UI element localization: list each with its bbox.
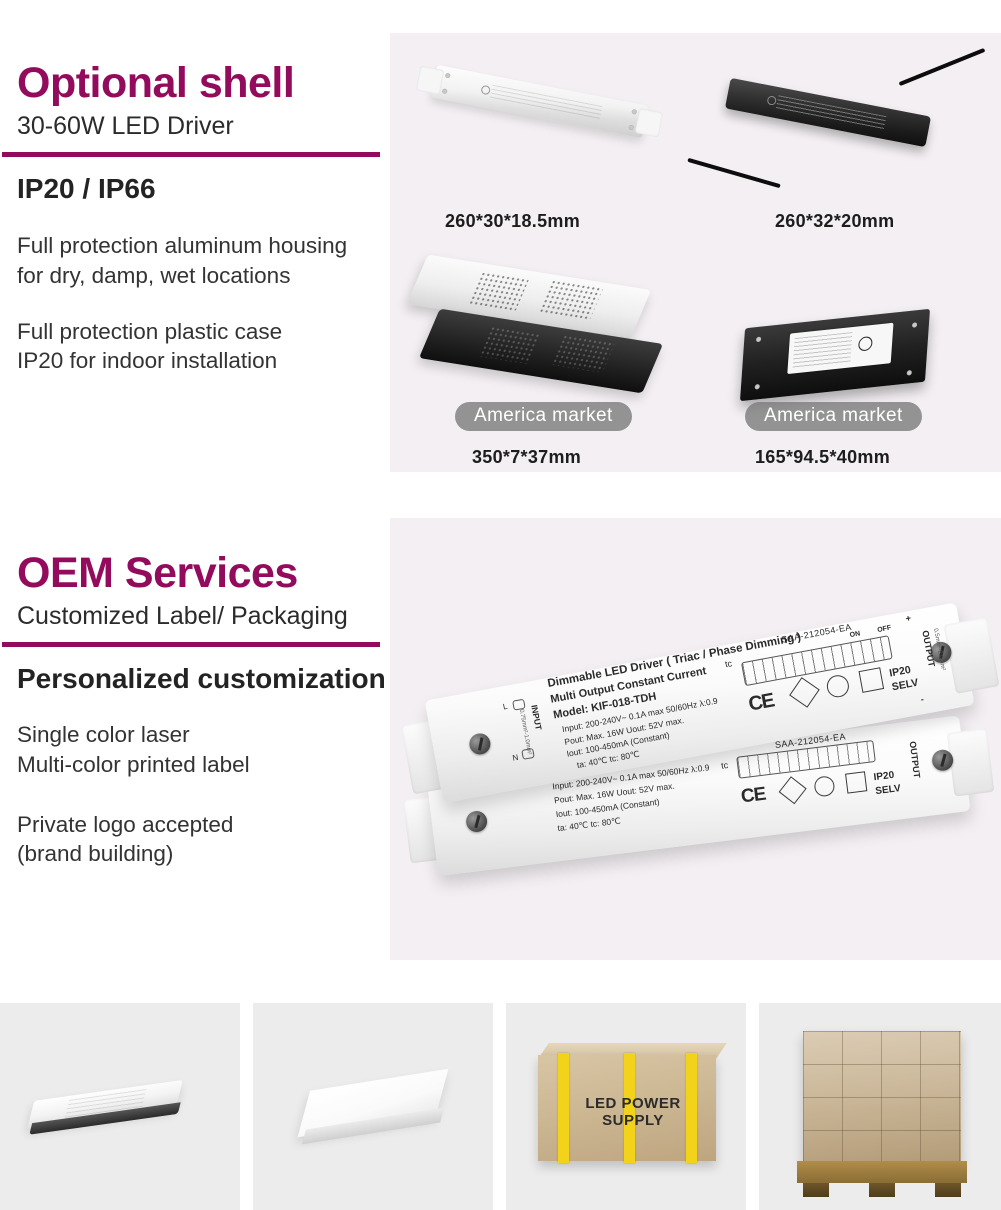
carton-caption: LED POWER SUPPLY	[558, 1095, 708, 1129]
oem-services-image-panel: Input: 200-240V~ 0.1A max 50/60Hz λ:0.9 …	[390, 518, 1001, 960]
product-slim-black-driver	[700, 53, 980, 203]
market-badge-left: America market	[455, 402, 632, 431]
terminal-n: N	[512, 753, 519, 763]
gallery-tile-driver	[0, 1003, 240, 1210]
front-input-wire-spec: 0.75mm²-1.0mm²	[518, 709, 532, 755]
front-cert-code: SAA-212054-EA	[781, 622, 853, 645]
product-marketing-page: Optional shell 30-60W LED Driver IP20 / …	[0, 0, 1001, 1210]
dimension-label-metal-box: 165*94.5*40mm	[755, 447, 890, 468]
terminal-l: L	[502, 702, 508, 712]
section-subtitle-oem-services: Customized Label/ Packaging	[0, 603, 392, 631]
dimension-label-vented: 350*7*37mm	[472, 447, 581, 468]
polarity-plus: +	[905, 613, 912, 624]
front-selv-mark: SELV	[891, 677, 919, 694]
section-title-oem-services: OEM Services	[0, 552, 392, 595]
front-input-port: INPUT	[529, 704, 543, 731]
section-subtitle-optional-shell: 30-60W LED Driver	[0, 113, 392, 141]
accent-divider-1	[2, 152, 380, 157]
back-selv-mark: SELV	[875, 783, 902, 797]
polarity-minus: -	[920, 694, 925, 704]
gallery-tile-white-box	[253, 1003, 493, 1210]
product-slim-white-driver	[431, 65, 648, 138]
switch-on-label: ON	[849, 630, 861, 639]
oem-paragraph-logo: Private logo accepted (brand building)	[0, 810, 392, 869]
optional-shell-image-panel: 260*30*18.5mm 260*32*20mm	[390, 33, 1001, 472]
gallery-tile-export-carton: LED POWER SUPPLY	[506, 1003, 746, 1210]
dimension-label-slim-black: 260*32*20mm	[775, 211, 894, 232]
section-heading-personalized: Personalized customization	[0, 664, 392, 695]
front-certification-block: SAA-212054-EA tc ON OFF CE IP20 SELV OUT…	[722, 606, 957, 744]
front-tc-marker: tc	[724, 658, 733, 669]
front-ce-mark: CE	[747, 689, 776, 716]
section-title-optional-shell: Optional shell	[0, 62, 392, 105]
accent-divider-2	[2, 642, 380, 647]
shell-paragraph-plastic: Full protection plastic case IP20 for in…	[0, 317, 392, 376]
back-ip20-mark: IP20	[873, 770, 895, 783]
shell-paragraph-aluminum: Full protection aluminum housing for dry…	[0, 231, 392, 290]
product-vented-enclosures	[396, 255, 696, 425]
optional-shell-text-column: Optional shell 30-60W LED Driver IP20 / …	[0, 62, 392, 375]
switch-off-label: OFF	[877, 625, 892, 634]
oem-paragraph-labeling: Single color laser Multi-color printed l…	[0, 720, 392, 779]
product-gallery-strip: LED POWER SUPPLY	[0, 1003, 1001, 1210]
section-heading-ip-rating: IP20 / IP66	[0, 174, 392, 205]
oem-services-text-column: OEM Services Customized Label/ Packaging…	[0, 552, 392, 868]
market-badge-right: America market	[745, 402, 922, 431]
gallery-tile-pallet	[759, 1003, 1001, 1210]
dimension-label-slim-white: 260*30*18.5mm	[445, 211, 580, 232]
